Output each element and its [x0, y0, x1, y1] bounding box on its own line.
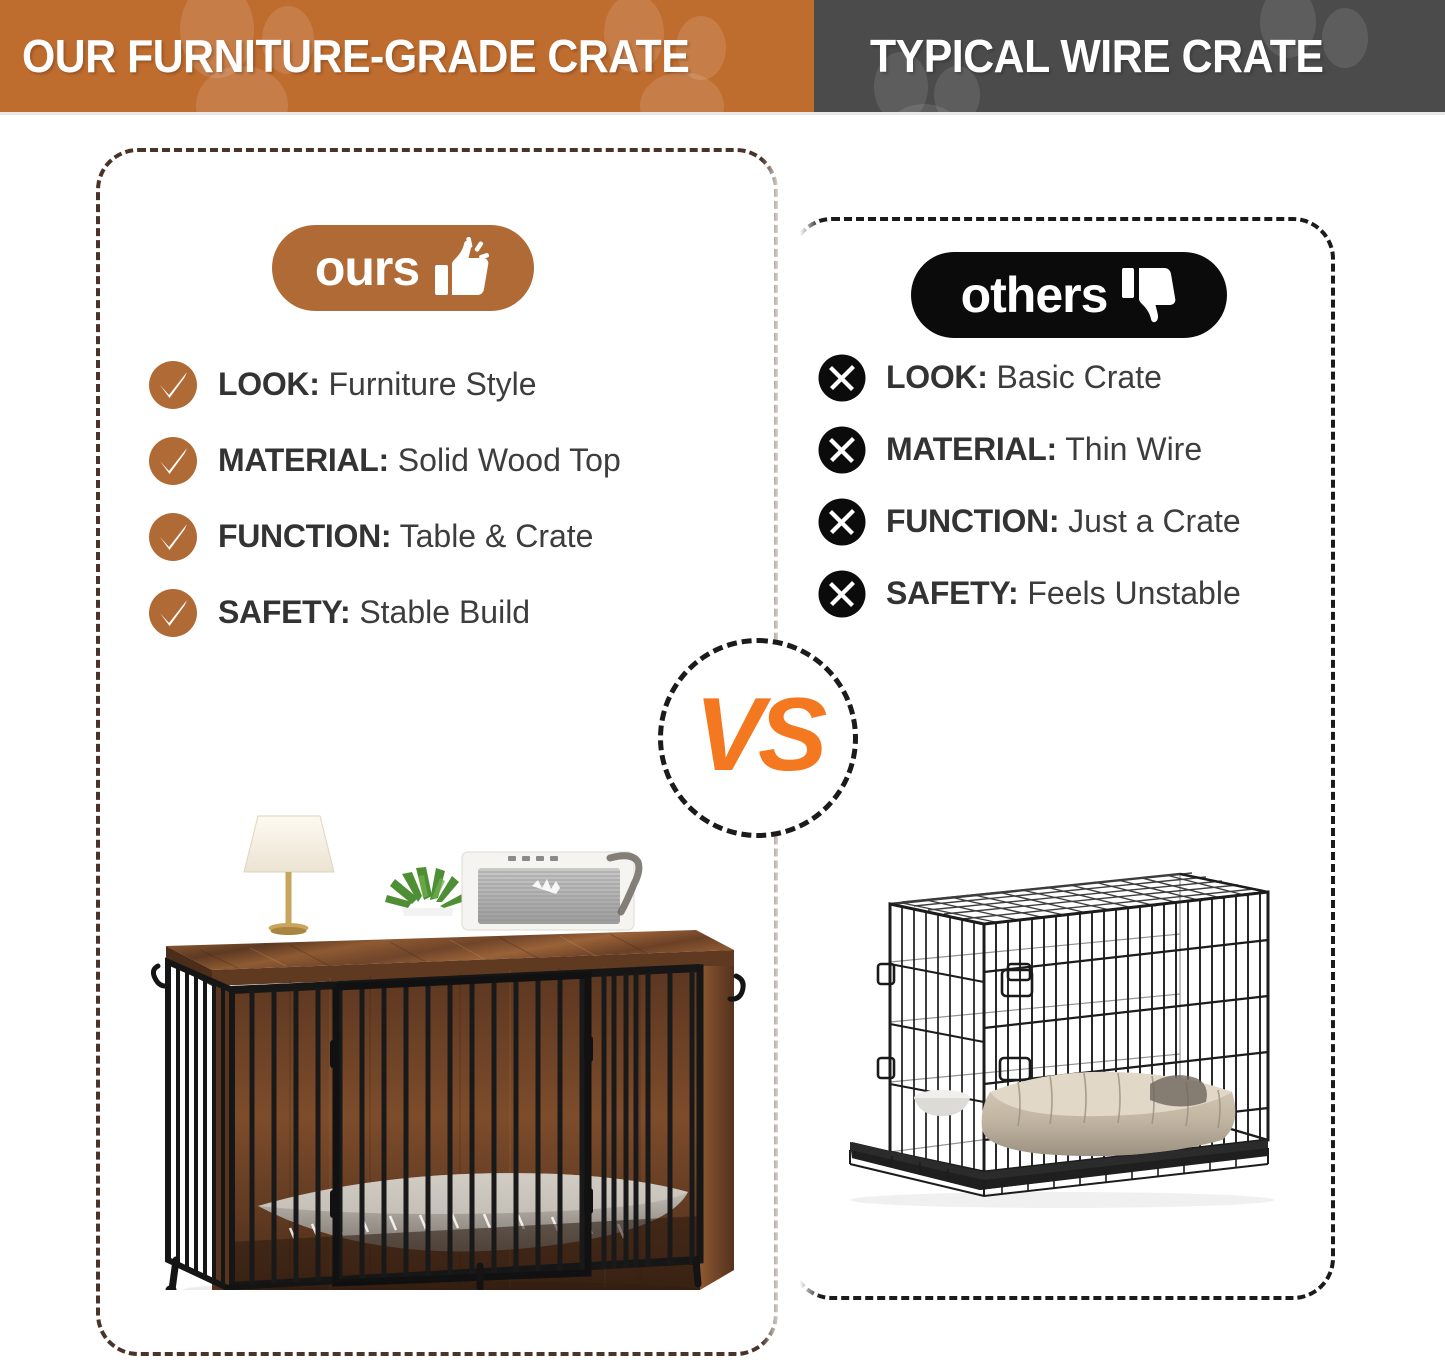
comparison-infographic: OUR FURNITURE-GRADE CRATE TYPICAL WIRE C… [0, 0, 1445, 1372]
feature-label: MATERIAL: [886, 431, 1057, 467]
x-circle-icon [818, 498, 866, 546]
feature-value: Furniture Style [329, 366, 537, 402]
feature-list-others: LOOK: Basic Crate MATERIAL: Thin Wire [818, 354, 1318, 642]
feature-value: Feels Unstable [1027, 575, 1240, 611]
thumbs-up-icon [433, 237, 491, 299]
feature-label: SAFETY: [218, 594, 350, 630]
versus-label: VS [658, 638, 858, 838]
feature-value: Stable Build [359, 594, 530, 630]
banner-ours-title: OUR FURNITURE-GRADE CRATE [22, 29, 689, 83]
badge-ours: ours [272, 225, 534, 311]
potted-plant-decor [385, 867, 465, 944]
header-banners: OUR FURNITURE-GRADE CRATE TYPICAL WIRE C… [0, 0, 1445, 112]
banner-ours: OUR FURNITURE-GRADE CRATE [0, 0, 814, 112]
table-lamp-decor [244, 816, 334, 935]
feature-label: FUNCTION: [886, 503, 1059, 539]
check-circle-icon [148, 360, 198, 410]
paw-print-icon [1322, 8, 1368, 68]
feature-row: LOOK: Furniture Style [148, 360, 728, 410]
feature-row: FUNCTION: Just a Crate [818, 498, 1318, 546]
vintage-radio-decor [462, 852, 639, 930]
check-circle-icon [148, 436, 198, 486]
product-image-wire-crate [832, 852, 1302, 1232]
feature-value: Basic Crate [997, 359, 1162, 395]
check-circle-icon [148, 512, 198, 562]
check-circle-icon [148, 588, 198, 638]
feature-row: LOOK: Basic Crate [818, 354, 1318, 402]
feature-label: LOOK: [218, 366, 320, 402]
x-circle-icon [818, 354, 866, 402]
feature-row: SAFETY: Feels Unstable [818, 570, 1318, 618]
feature-value: Table & Crate [400, 518, 594, 554]
badge-ours-label: ours [315, 243, 419, 293]
feature-label: MATERIAL: [218, 442, 389, 478]
feature-list-ours: LOOK: Furniture Style MATERIAL: Solid Wo… [148, 360, 728, 664]
feature-label: SAFETY: [886, 575, 1018, 611]
feature-value: Just a Crate [1068, 503, 1241, 539]
product-image-furniture-crate [140, 790, 760, 1290]
feature-row: MATERIAL: Solid Wood Top [148, 436, 728, 486]
feature-value: Thin Wire [1065, 431, 1202, 467]
feature-row: FUNCTION: Table & Crate [148, 512, 728, 562]
versus-badge: VS [658, 638, 858, 838]
banner-others-title: TYPICAL WIRE CRATE [870, 29, 1324, 83]
x-circle-icon [818, 426, 866, 474]
feature-row: SAFETY: Stable Build [148, 588, 728, 638]
badge-others-label: others [961, 270, 1108, 320]
banner-others: TYPICAL WIRE CRATE [814, 0, 1445, 112]
thumbs-down-icon [1121, 264, 1177, 326]
badge-others: others [911, 252, 1227, 338]
feature-label: FUNCTION: [218, 518, 391, 554]
dog-bed-beige [982, 1072, 1236, 1156]
feature-label: LOOK: [886, 359, 988, 395]
feature-value: Solid Wood Top [398, 442, 621, 478]
header-divider [0, 112, 1445, 115]
feature-row: MATERIAL: Thin Wire [818, 426, 1318, 474]
x-circle-icon [818, 570, 866, 618]
